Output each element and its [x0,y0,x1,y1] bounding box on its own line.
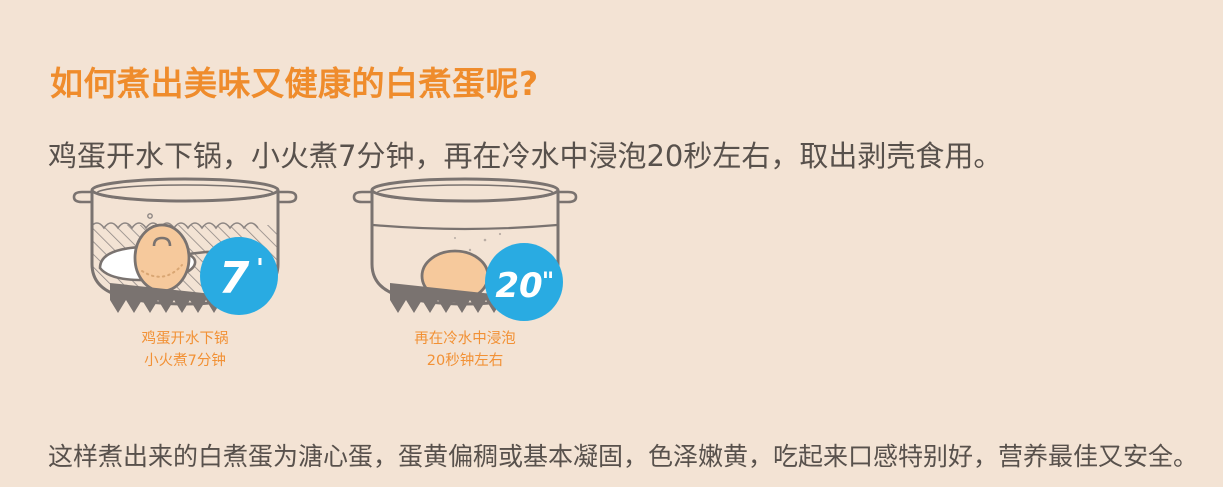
pot-handle-left [354,192,372,202]
pot-handle-right [558,192,576,202]
badge-20-label: 20 [495,266,542,306]
step-cool-caption: 再在冷水中浸泡 20秒钟左右 [350,328,580,373]
egg-in-ladle [135,225,189,291]
page-title: 如何煮出美味又健康的白煮蛋呢? [50,66,539,102]
step-cool: 20 " 再在冷水中浸泡 20秒钟左右 [350,168,580,388]
step-cool-caption-line1: 再在冷水中浸泡 [350,328,580,350]
step-cool-caption-line2: 20秒钟左右 [350,350,580,372]
step-boil-caption-line2: 小火煮7分钟 [70,350,300,372]
footer-paragraph: 这样煮出来的白煮蛋为溏心蛋，蛋黄偏稠或基本凝固，色泽嫩黄，吃起来口感特别好，营养… [48,442,1198,472]
pot-handle-right [278,192,296,202]
steps-row: 7 ' 鸡蛋开水下锅 小火煮7分钟 [60,168,640,388]
badge-7-unit: ' [256,254,264,284]
badge-20-seconds: 20 " [483,241,565,323]
infographic-page: 如何煮出美味又健康的白煮蛋呢? 鸡蛋开水下锅，小火煮7分钟，再在冷水中浸泡20秒… [0,0,1223,487]
step-boil: 7 ' 鸡蛋开水下锅 小火煮7分钟 [70,168,300,388]
step-boil-caption: 鸡蛋开水下锅 小火煮7分钟 [70,328,300,373]
badge-7-label: 7 [219,253,250,304]
badge-7-minutes: 7 ' [198,235,280,317]
pot-handle-left [74,192,92,202]
badge-20-unit: " [542,267,555,295]
step-boil-caption-line1: 鸡蛋开水下锅 [70,328,300,350]
